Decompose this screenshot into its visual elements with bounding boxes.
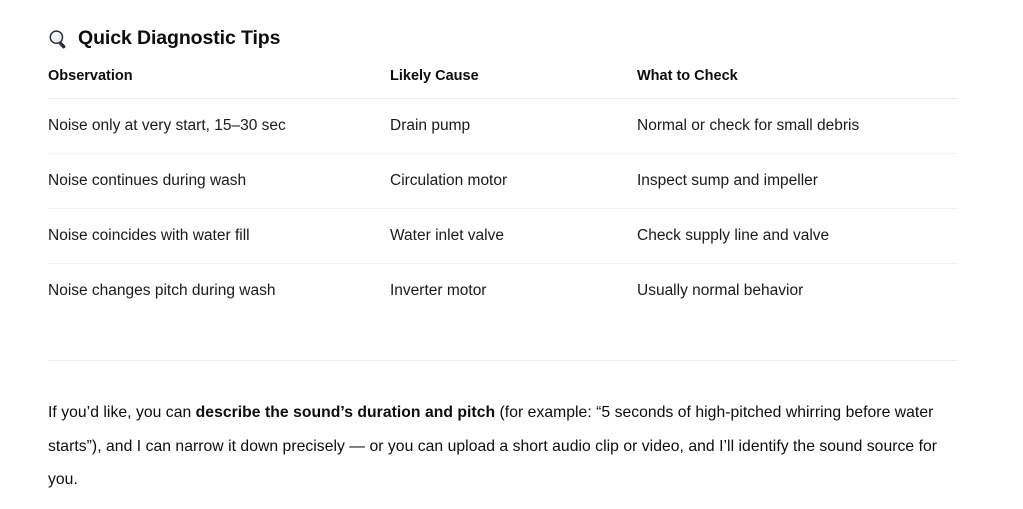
- cell-what-to-check: Usually normal behavior: [637, 264, 958, 319]
- paragraph-emphasis: describe the sound’s duration and pitch: [196, 404, 495, 421]
- cell-likely-cause: Water inlet valve: [390, 209, 637, 264]
- cell-what-to-check: Check supply line and valve: [637, 209, 958, 264]
- table-row: Noise only at very start, 15–30 sec Drai…: [48, 99, 958, 154]
- page-title: Quick Diagnostic Tips: [48, 0, 975, 52]
- column-header-likely-cause: Likely Cause: [390, 66, 637, 99]
- table-header-row: Observation Likely Cause What to Check: [48, 66, 958, 99]
- cell-likely-cause: Drain pump: [390, 99, 637, 154]
- cell-likely-cause: Circulation motor: [390, 154, 637, 209]
- page-title-text: Quick Diagnostic Tips: [78, 24, 280, 52]
- closing-paragraph: If you’d like, you can describe the soun…: [48, 396, 960, 497]
- paragraph-lead: If you’d like, you can: [48, 404, 196, 421]
- table-row: Noise changes pitch during wash Inverter…: [48, 264, 958, 319]
- cell-what-to-check: Inspect sump and impeller: [637, 154, 958, 209]
- diagnostic-tips-table: Observation Likely Cause What to Check N…: [48, 66, 958, 318]
- cell-what-to-check: Normal or check for small debris: [637, 99, 958, 154]
- table-body: Noise only at very start, 15–30 sec Drai…: [48, 99, 958, 319]
- cell-observation: Noise only at very start, 15–30 sec: [48, 99, 390, 154]
- cell-observation: Noise continues during wash: [48, 154, 390, 209]
- table-row: Noise continues during wash Circulation …: [48, 154, 958, 209]
- cell-observation: Noise coincides with water fill: [48, 209, 390, 264]
- magnifying-glass-icon: [48, 29, 69, 50]
- cell-observation: Noise changes pitch during wash: [48, 264, 390, 319]
- column-header-what-to-check: What to Check: [637, 66, 958, 99]
- table-row: Noise coincides with water fill Water in…: [48, 209, 958, 264]
- column-header-observation: Observation: [48, 66, 390, 99]
- cell-likely-cause: Inverter motor: [390, 264, 637, 319]
- table-header: Observation Likely Cause What to Check: [48, 66, 958, 99]
- section-divider: [48, 360, 958, 361]
- document-page: Quick Diagnostic Tips Observation Likely…: [0, 0, 1023, 509]
